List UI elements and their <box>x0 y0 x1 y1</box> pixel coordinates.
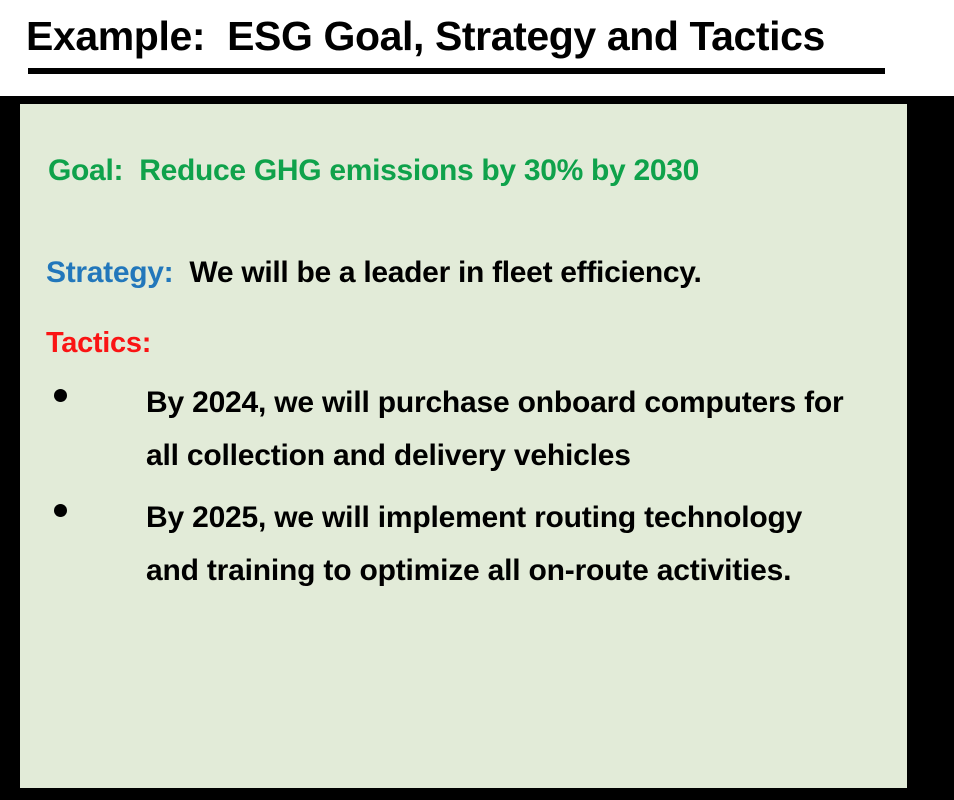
page-title: Example: ESG Goal, Strategy and Tactics <box>26 14 926 60</box>
slide-canvas: Example: ESG Goal, Strategy and Tactics … <box>0 0 954 800</box>
content-card: Goal: Reduce GHG emissions by 30% by 203… <box>12 96 915 796</box>
tactics-list: By 2024, we will purchase onboard comput… <box>20 376 907 606</box>
bullet-dot-icon <box>54 389 67 402</box>
list-item-label: By 2024, we will purchase onboard comput… <box>146 376 851 483</box>
strategy-statement: Strategy: We will be a leader in fleet e… <box>46 256 702 290</box>
list-item-label: By 2025, we will implement routing techn… <box>146 491 851 598</box>
tactics-label: Tactics: <box>46 327 151 360</box>
title-underline <box>28 68 885 74</box>
list-item: By 2025, we will implement routing techn… <box>20 491 907 598</box>
list-item: By 2024, we will purchase onboard comput… <box>20 376 907 483</box>
goal-statement: Goal: Reduce GHG emissions by 30% by 203… <box>48 154 699 188</box>
strategy-label: Strategy: <box>46 256 173 289</box>
bullet-dot-icon <box>54 504 67 517</box>
strategy-text: We will be a leader in fleet efficiency. <box>189 256 701 289</box>
content-card-inner: Goal: Reduce GHG emissions by 30% by 203… <box>20 104 907 788</box>
